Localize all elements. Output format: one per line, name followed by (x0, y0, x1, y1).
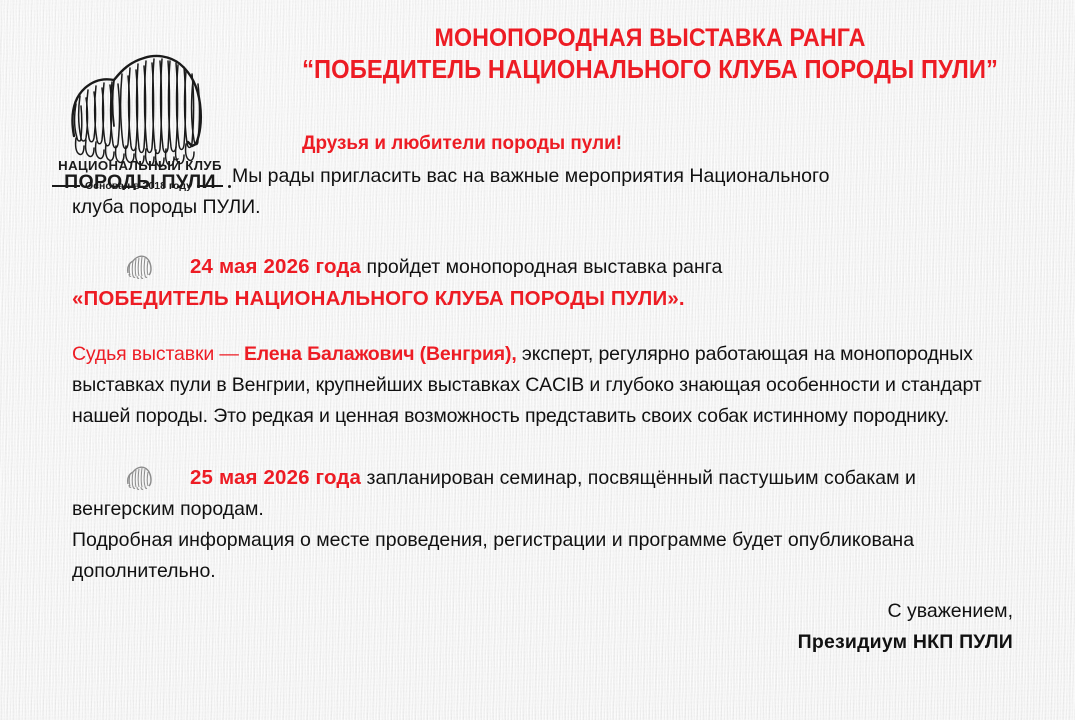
puli-bullet-icon (124, 464, 154, 490)
title-line-1: МОНОПОРОДНАЯ ВЫСТАВКА РАНГА (278, 22, 1022, 54)
spacer-2 (72, 315, 1012, 339)
event2-info: Подробная информация о месте проведения,… (72, 529, 914, 582)
title-line-2: “ПОБЕДИТЕЛЬ НАЦИОНАЛЬНОГО КЛУБА ПОРОДЫ П… (278, 54, 1022, 86)
event1-rest: пройдет монопородная выставка ранга (361, 256, 722, 278)
event1-title-line: «ПОБЕДИТЕЛЬ НАЦИОНАЛЬНОГО КЛУБА ПОРОДЫ П… (72, 283, 1012, 315)
letter-body: Друзья и любители породы пули! Мы рады п… (72, 128, 1012, 587)
event1-paragraph: 24 мая 2026 года пройдет монопородная вы… (72, 251, 1012, 283)
spacer-3 (72, 432, 1012, 462)
intro-paragraph: Мы рады пригласить вас на важные меропри… (72, 161, 1012, 223)
announcement-page: НАЦИОНАЛЬНЫЙ КЛУБ ПОРОДЫ ПУЛИ Основан в … (0, 0, 1075, 720)
intro-line-2: клуба породы ПУЛИ. (72, 196, 261, 218)
event2-info-paragraph: Подробная информация о месте проведения,… (72, 525, 1012, 587)
judge-name: Елена Балажович (Венгрия), (244, 343, 517, 365)
intro-line-1: Мы рады пригласить вас на важные меропри… (232, 165, 830, 187)
signature-block: С уважением, Президиум НКП ПУЛИ (798, 596, 1013, 658)
judge-label: Судья выставки — (72, 343, 244, 365)
event2-paragraph: 25 мая 2026 года запланирован семинар, п… (72, 462, 1012, 525)
event1-title: «ПОБЕДИТЕЛЬ НАЦИОНАЛЬНОГО КЛУБА ПОРОДЫ П… (72, 287, 685, 310)
signature-closing: С уважением, (798, 596, 1013, 627)
event2-date: 25 мая 2026 года (190, 466, 361, 489)
judge-paragraph: Судья выставки — Елена Балажович (Венгри… (72, 339, 1012, 432)
spacer-1 (72, 223, 1012, 251)
greeting-line: Друзья и любители породы пули! (84, 128, 841, 159)
signature-name: Президиум НКП ПУЛИ (798, 627, 1013, 658)
puli-bullet-icon (124, 253, 154, 279)
page-title: МОНОПОРОДНАЯ ВЫСТАВКА РАНГА “ПОБЕДИТЕЛЬ … (250, 22, 1050, 86)
event1-date: 24 мая 2026 года (190, 255, 361, 278)
